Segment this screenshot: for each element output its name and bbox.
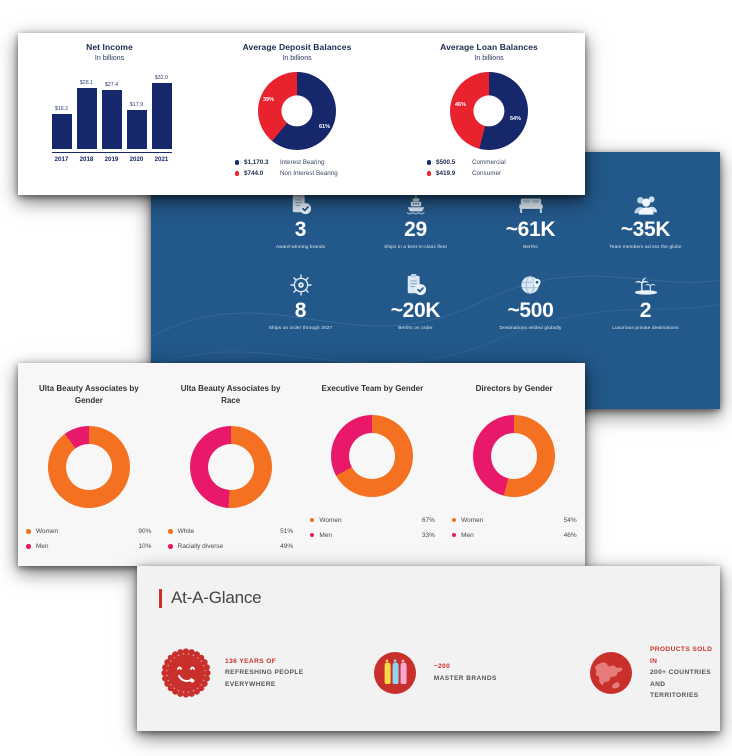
ulta-chart-3: Directors by GenderWomen54%Men46% xyxy=(443,383,585,566)
donut-hole xyxy=(66,444,112,490)
globe-pin-icon xyxy=(519,271,543,297)
legend-label: Men xyxy=(319,532,421,539)
legend-label: Women xyxy=(319,517,421,524)
loan-slice-label-1: 46% xyxy=(455,102,466,108)
stat-value: ~500 xyxy=(507,300,553,322)
bank-metrics-panel: Net Income In billions $16.2$28.1$27.4$1… xyxy=(18,33,585,195)
bar-value-label: $27.4 xyxy=(105,82,118,88)
net-income-subtitle: In billions xyxy=(95,55,124,62)
deposit-donut: 61% 39% xyxy=(258,72,336,150)
stat-value: 8 xyxy=(295,300,306,322)
net-income-title: Net Income xyxy=(86,42,133,52)
legend-color-dot xyxy=(168,529,173,534)
loan-balances-chart: Average Loan Balances In billions 54% 46… xyxy=(393,33,585,195)
legend-color-dot xyxy=(452,518,457,523)
chart-title: Executive Team by Gender xyxy=(313,383,431,395)
globe-icon xyxy=(586,648,636,698)
stat-item-0: 3Award-winning brands xyxy=(243,190,358,249)
glance-headline: ~200 xyxy=(434,661,497,673)
bar xyxy=(52,114,72,149)
legend-row: Racially diverse49% xyxy=(168,543,293,550)
loan-slice-label-0: 54% xyxy=(510,116,521,122)
glance-line-2: TERRITORIES xyxy=(650,690,720,702)
sun-smile-icon xyxy=(161,648,211,698)
stat-caption: Team members across the globe xyxy=(609,244,681,249)
team-people-icon xyxy=(633,190,659,216)
legend-color-dot xyxy=(235,160,240,165)
bar-item: $17.9 xyxy=(127,75,147,149)
stat-caption: Award-winning brands xyxy=(276,244,325,249)
donut-chart xyxy=(331,415,413,497)
stat-item-6: ~500Destinations visited globally xyxy=(473,271,588,330)
legend-color-dot xyxy=(427,171,432,176)
donut-chart xyxy=(473,415,555,497)
donut-chart xyxy=(190,426,272,508)
legend-percent: 54% xyxy=(564,517,577,524)
ulta-chart-1: Ulta Beauty Associates by RaceWhite51%Ra… xyxy=(160,383,302,566)
legend-color-dot xyxy=(310,533,315,538)
donut-chart xyxy=(48,426,130,508)
bar xyxy=(102,90,122,150)
palm-island-icon xyxy=(633,271,659,297)
legend-row: $419.9Consumer xyxy=(427,170,552,177)
glance-item-1: ~200MASTER BRANDS xyxy=(370,644,586,702)
stat-item-3: ~35KTeam members across the globe xyxy=(588,190,703,249)
legend-label: Interest Bearing xyxy=(280,159,324,166)
glance-line-2: EVERYWHERE xyxy=(225,679,304,691)
deposit-legend: $1,170.3Interest Bearing$744.0Non Intere… xyxy=(235,159,360,181)
ships-wheel-icon xyxy=(289,271,313,297)
legend-percent: 90% xyxy=(138,528,151,535)
bar xyxy=(152,83,172,149)
x-tick-label: 2018 xyxy=(77,156,97,163)
legend-value: $1,170.3 xyxy=(244,159,280,166)
legend-row: $500.5Commercial xyxy=(427,159,552,166)
stat-item-7: 2Luxurious private destinations xyxy=(588,271,703,330)
clipboard-check-icon xyxy=(405,271,427,297)
bar-value-label: $17.9 xyxy=(130,102,143,108)
stat-item-4: 8Ships on order through 2027 xyxy=(243,271,358,330)
x-tick-label: 2019 xyxy=(102,156,122,163)
stat-value: 29 xyxy=(404,219,427,241)
legend-percent: 33% xyxy=(422,532,435,539)
chart-title: Ulta Beauty Associates by Gender xyxy=(30,383,148,406)
legend-row: $1,170.3Interest Bearing xyxy=(235,159,360,166)
glance-title: At-A-Glance xyxy=(171,588,261,608)
legend-color-dot xyxy=(235,171,240,176)
stat-caption: Ships in a best-in-class fleet xyxy=(384,244,447,249)
legend-row: White51% xyxy=(168,528,293,535)
bar-value-label: $16.2 xyxy=(55,106,68,112)
stat-value: ~20K xyxy=(391,300,441,322)
glance-headline: PRODUCTS SOLD IN xyxy=(650,644,720,667)
stat-item-2: ~61KBerths xyxy=(473,190,588,249)
legend-color-dot xyxy=(310,518,315,523)
loan-legend: $500.5Commercial$419.9Consumer xyxy=(427,159,552,181)
donut-hole xyxy=(208,444,254,490)
deposit-title: Average Deposit Balances xyxy=(243,42,352,52)
legend-row: Women54% xyxy=(452,517,577,524)
legend-value: $419.9 xyxy=(436,170,472,177)
legend-row: Women90% xyxy=(26,528,151,535)
donut-hole xyxy=(473,96,504,127)
chart-legend: Women54%Men46% xyxy=(452,517,577,547)
ulta-chart-0: Ulta Beauty Associates by GenderWomen90%… xyxy=(18,383,160,566)
legend-label: Consumer xyxy=(472,170,501,177)
stat-caption: Berths on order xyxy=(398,325,433,330)
stat-value: 3 xyxy=(295,219,306,241)
legend-label: Non Interest Bearing xyxy=(280,170,338,177)
x-tick-label: 2020 xyxy=(127,156,147,163)
stat-value: ~35K xyxy=(621,219,671,241)
glance-line-1: REFRESHING PEOPLE xyxy=(225,667,304,679)
x-tick-label: 2021 xyxy=(152,156,172,163)
x-axis-line xyxy=(52,152,172,153)
legend-label: Women xyxy=(36,528,138,535)
net-income-chart: Net Income In billions $16.2$28.1$27.4$1… xyxy=(18,33,201,195)
bar-item: $16.2 xyxy=(52,75,72,149)
legend-percent: 10% xyxy=(138,543,151,550)
legend-value: $744.0 xyxy=(244,170,280,177)
bar xyxy=(77,88,97,149)
legend-color-dot xyxy=(26,529,31,534)
legend-percent: 51% xyxy=(280,528,293,535)
loan-subtitle: In billions xyxy=(474,55,503,62)
x-tick-labels: 20172018201920202021 xyxy=(52,156,172,163)
donut-hole xyxy=(491,433,537,479)
stats-grid: 3Award-winning brands29Ships in a best-i… xyxy=(243,190,703,330)
stat-caption: Berths xyxy=(523,244,537,249)
glance-line-1: MASTER BRANDS xyxy=(434,673,497,685)
legend-row: Men33% xyxy=(310,532,435,539)
stat-caption: Ships on order through 2027 xyxy=(269,325,332,330)
legend-color-dot xyxy=(452,533,457,538)
donut-hole xyxy=(281,96,312,127)
stat-value: 2 xyxy=(640,300,651,322)
deposit-balances-chart: Average Deposit Balances In billions 61%… xyxy=(201,33,393,195)
stat-caption: Luxurious private destinations xyxy=(612,325,679,330)
bar-item: $28.1 xyxy=(77,75,97,149)
net-income-plot: $16.2$28.1$27.4$17.9$32.0 20172018201920… xyxy=(44,68,176,163)
deposit-slice-label-1: 39% xyxy=(263,97,274,103)
legend-color-dot xyxy=(26,544,31,549)
glance-line-1: 200+ COUNTRIES AND xyxy=(650,667,720,690)
legend-row: $744.0Non Interest Bearing xyxy=(235,170,360,177)
loan-title: Average Loan Balances xyxy=(440,42,538,52)
chart-legend: White51%Racially diverse49% xyxy=(168,528,293,558)
ulta-diversity-panel: Ulta Beauty Associates by GenderWomen90%… xyxy=(18,363,585,566)
glance-header: At-A-Glance xyxy=(159,588,720,608)
glance-text: PRODUCTS SOLD IN200+ COUNTRIES ANDTERRIT… xyxy=(650,644,720,702)
legend-row: Men10% xyxy=(26,543,151,550)
ulta-chart-2: Executive Team by GenderWomen67%Men33% xyxy=(302,383,444,566)
legend-label: Men xyxy=(36,543,138,550)
legend-label: White xyxy=(178,528,280,535)
stat-caption: Destinations visited globally xyxy=(500,325,562,330)
legend-label: Commercial xyxy=(472,159,506,166)
legend-row: Men46% xyxy=(452,532,577,539)
legend-label: Men xyxy=(461,532,563,539)
legend-color-dot xyxy=(168,544,173,549)
chart-legend: Women67%Men33% xyxy=(310,517,435,547)
glance-items: 136 YEARS OFREFRESHING PEOPLEEVERYWHERE~… xyxy=(137,644,720,702)
chart-title: Ulta Beauty Associates by Race xyxy=(172,383,290,406)
legend-row: Women67% xyxy=(310,517,435,524)
stat-value: ~61K xyxy=(506,219,556,241)
x-tick-label: 2017 xyxy=(52,156,72,163)
deposit-subtitle: In billions xyxy=(282,55,311,62)
bar-value-label: $28.1 xyxy=(80,80,93,86)
glance-item-0: 136 YEARS OFREFRESHING PEOPLEEVERYWHERE xyxy=(161,644,370,702)
legend-value: $500.5 xyxy=(436,159,472,166)
stat-item-5: ~20KBerths on order xyxy=(358,271,473,330)
glance-headline: 136 YEARS OF xyxy=(225,656,304,668)
legend-percent: 46% xyxy=(564,532,577,539)
accent-bar xyxy=(159,589,162,608)
glance-item-2: PRODUCTS SOLD IN200+ COUNTRIES ANDTERRIT… xyxy=(586,644,720,702)
loan-donut: 54% 46% xyxy=(450,72,528,150)
chart-title: Directors by Gender xyxy=(455,383,573,395)
bar-item: $32.0 xyxy=(152,75,172,149)
legend-percent: 49% xyxy=(280,543,293,550)
ulta-charts-grid: Ulta Beauty Associates by GenderWomen90%… xyxy=(18,363,585,566)
donut-hole xyxy=(349,433,395,479)
deposit-slice-label-0: 61% xyxy=(319,124,330,130)
bar-item: $27.4 xyxy=(102,75,122,149)
stat-item-1: 29Ships in a best-in-class fleet xyxy=(358,190,473,249)
legend-color-dot xyxy=(427,160,432,165)
glance-text: 136 YEARS OFREFRESHING PEOPLEEVERYWHERE xyxy=(225,656,304,691)
bottles-icon xyxy=(370,648,420,698)
chart-legend: Women90%Men10% xyxy=(26,528,151,558)
bar xyxy=(127,110,147,149)
legend-label: Racially diverse xyxy=(178,543,280,550)
legend-label: Women xyxy=(461,517,563,524)
at-a-glance-panel: At-A-Glance 136 YEARS OFREFRESHING PEOPL… xyxy=(137,566,720,731)
bar-value-label: $32.0 xyxy=(155,75,168,81)
bar-series: $16.2$28.1$27.4$17.9$32.0 xyxy=(52,75,172,149)
glance-text: ~200MASTER BRANDS xyxy=(434,661,497,684)
legend-percent: 67% xyxy=(422,517,435,524)
